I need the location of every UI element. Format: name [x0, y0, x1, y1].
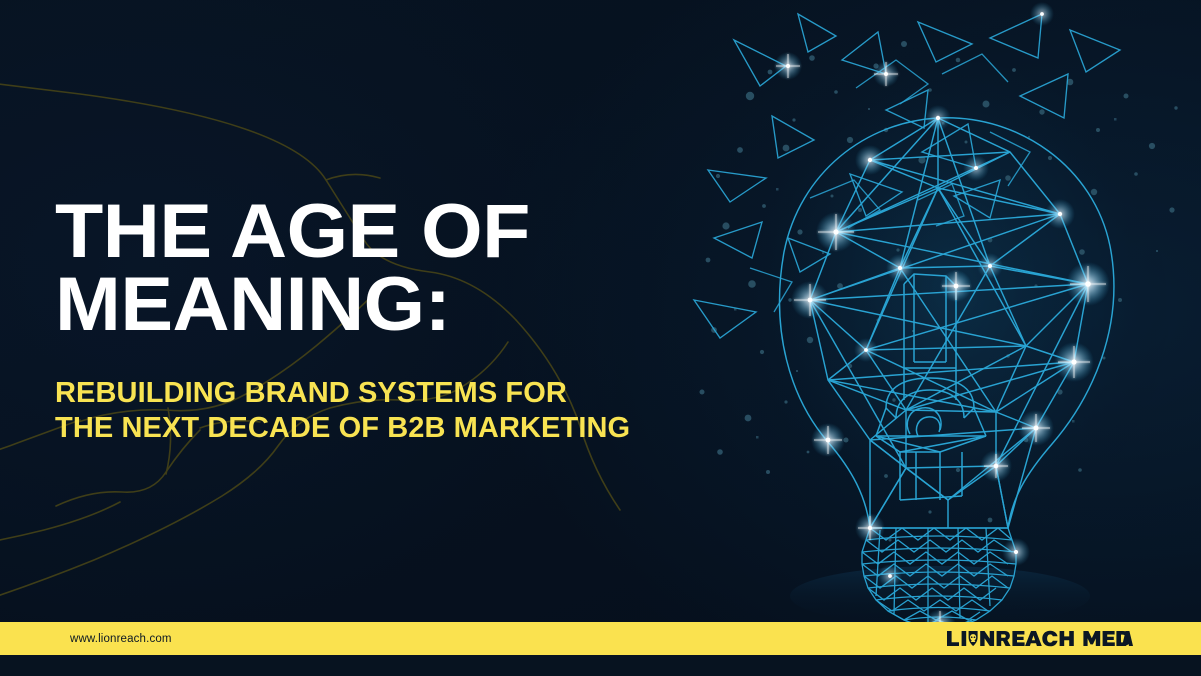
page-title: THE AGE OF MEANING:	[55, 196, 783, 342]
lionreach-media-wordmark	[947, 629, 1135, 649]
footer-underbar	[0, 655, 1201, 676]
footer-bar: www.lionreach.com	[0, 622, 1201, 655]
page-subtitle: REBUILDING BRAND SYSTEMS FOR THE NEXT DE…	[55, 342, 755, 447]
brand-logo[interactable]	[947, 629, 1135, 649]
slide-canvas: THE AGE OF MEANING: REBUILDING BRAND SYS…	[0, 0, 1201, 676]
website-url[interactable]: www.lionreach.com	[70, 633, 172, 645]
title-block: THE AGE OF MEANING: REBUILDING BRAND SYS…	[55, 196, 755, 447]
